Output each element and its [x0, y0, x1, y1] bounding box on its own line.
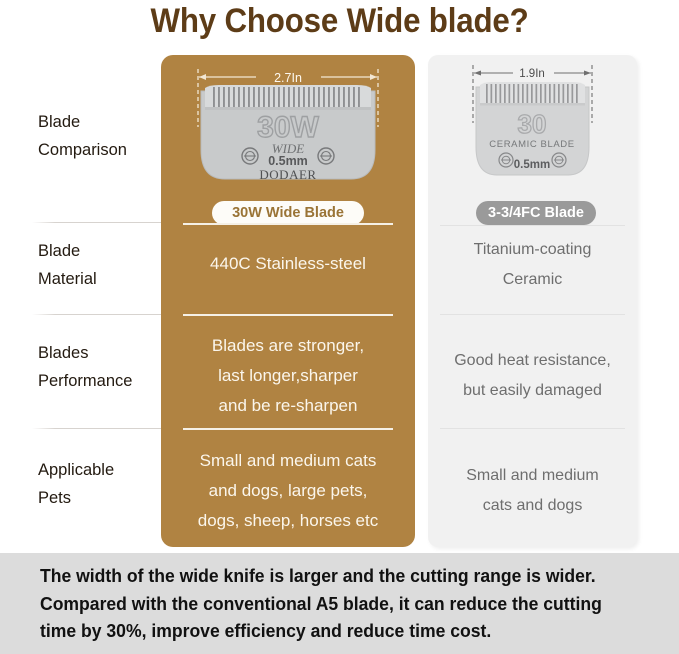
ceramic-blade-size-text: 0.5mm	[514, 159, 550, 171]
wide-blade-brand-text: DODAER	[259, 167, 316, 182]
page-title: Why Choose Wide blade?	[27, 2, 652, 41]
ceramic-blade-material: Titanium-coating Ceramic	[428, 235, 637, 295]
wide-blade-dimension-text: 2.7In	[274, 71, 302, 85]
row-label-column: Blade Comparison Blade Material Blades P…	[0, 55, 161, 547]
ceramic-blade-sublabel-text: CERAMIC BLADE	[489, 139, 574, 150]
row-divider	[32, 314, 161, 315]
footer-text: The width of the wide knife is larger an…	[40, 562, 624, 645]
ceramic-blade-illustration: 1.9In	[428, 55, 637, 220]
ceramic-blade-dimension-text: 1.9In	[519, 68, 545, 80]
ceramic-blade-pets: Small and medium cats and dogs	[428, 461, 637, 521]
ceramic-blade-column: 1.9In	[428, 55, 637, 547]
ceramic-blade-performance: Good heat resistance, but easily damaged	[428, 346, 637, 406]
wide-blade-badge: 30W Wide Blade	[212, 201, 364, 225]
brown-inner-divider	[183, 223, 393, 225]
row-divider	[32, 428, 161, 429]
light-inner-divider	[440, 314, 625, 315]
wide-blade-material: 440C Stainless-steel	[161, 249, 415, 279]
brown-inner-divider	[183, 314, 393, 316]
ceramic-blade-badge: 3-3/4FC Blade	[476, 201, 596, 225]
row-divider	[32, 222, 161, 223]
wide-blade-size-text: 0.5mm	[268, 154, 308, 168]
infographic-page: Why Choose Wide blade? Blade Comparison …	[0, 0, 679, 654]
wide-blade-column: 2.7In	[161, 55, 415, 547]
row-label-applicable-pets: Applicable Pets	[38, 456, 163, 512]
wide-blade-performance: Blades are stronger, last longer,sharper…	[161, 331, 415, 421]
row-label-blade-comparison: Blade Comparison	[38, 108, 163, 164]
wide-blade-svg: 2.7In	[161, 55, 415, 220]
brown-inner-divider	[183, 428, 393, 430]
row-label-blades-performance: Blades Performance	[38, 339, 163, 395]
row-label-blade-material: Blade Material	[38, 237, 163, 293]
wide-blade-model-text: 30W	[257, 111, 319, 144]
wide-blade-pets: Small and medium cats and dogs, large pe…	[161, 446, 415, 536]
comparison-table: Blade Comparison Blade Material Blades P…	[0, 55, 679, 547]
light-inner-divider	[440, 225, 625, 226]
light-inner-divider	[440, 428, 625, 429]
footer-band: The width of the wide knife is larger an…	[0, 553, 679, 654]
ceramic-blade-model-text: 30	[518, 109, 547, 139]
wide-blade-illustration: 2.7In	[161, 55, 415, 220]
ceramic-blade-svg: 1.9In	[428, 55, 637, 220]
